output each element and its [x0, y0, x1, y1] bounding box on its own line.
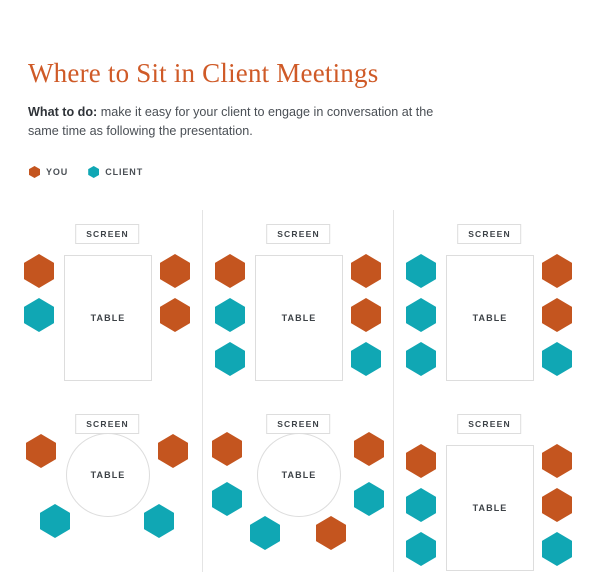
seat-you-right — [351, 254, 381, 288]
seat-you-upper-right — [354, 432, 384, 466]
table-rectangle: TABLE — [64, 255, 152, 381]
seat-client-left — [406, 532, 436, 566]
seat-client-right — [542, 342, 572, 376]
table-round: TABLE — [257, 433, 341, 517]
table-rectangle: TABLE — [446, 445, 534, 571]
seating-diagram-2: SCREENTABLE — [203, 206, 393, 392]
seat-client-bottom-left — [250, 516, 280, 550]
seat-you-upper-left — [26, 434, 56, 468]
table-round: TABLE — [66, 433, 150, 517]
subtitle-lead: What to do: — [28, 105, 97, 119]
seating-diagram-3: SCREENTABLE — [394, 206, 584, 392]
legend-item-you: YOU — [29, 166, 68, 178]
seat-you-bottom-right — [316, 516, 346, 550]
hexagon-swatch-icon — [88, 166, 99, 178]
screen-label: SCREEN — [266, 224, 330, 244]
hexagon-swatch-icon — [29, 166, 40, 178]
screen-label: SCREEN — [266, 414, 330, 434]
seat-client-right — [542, 532, 572, 566]
seat-you-right — [542, 298, 572, 332]
seating-diagram-5: SCREENTABLE — [203, 396, 393, 582]
diagram-grid: SCREENTABLESCREENTABLESCREENTABLESCREENT… — [0, 200, 600, 582]
screen-label: SCREEN — [457, 224, 521, 244]
seat-client-left — [406, 488, 436, 522]
screen-label: SCREEN — [75, 414, 139, 434]
page-subtitle: What to do: make it easy for your client… — [28, 103, 458, 141]
seat-you-left — [406, 444, 436, 478]
seat-you-right — [160, 298, 190, 332]
seating-diagram-6: SCREENTABLE — [394, 396, 584, 582]
seat-client-right — [351, 342, 381, 376]
seat-you-upper-right — [158, 434, 188, 468]
seat-client-left — [406, 254, 436, 288]
seating-diagram-1: SCREENTABLE — [12, 206, 202, 392]
seat-you-upper-left — [212, 432, 242, 466]
table-rectangle: TABLE — [255, 255, 343, 381]
seat-client-left — [24, 298, 54, 332]
seat-you-right — [542, 488, 572, 522]
legend-item-client: CLIENT — [88, 166, 143, 178]
legend-label: CLIENT — [105, 167, 143, 177]
seat-you-left — [215, 254, 245, 288]
seating-diagram-4: SCREENTABLE — [12, 396, 202, 582]
legend: YOUCLIENT — [29, 166, 143, 178]
seat-client-lower-right — [144, 504, 174, 538]
seat-client-mid-right — [354, 482, 384, 516]
screen-label: SCREEN — [457, 414, 521, 434]
page-title: Where to Sit in Client Meetings — [28, 58, 378, 89]
seat-client-mid-left — [212, 482, 242, 516]
seat-client-left — [406, 342, 436, 376]
seat-you-right — [542, 444, 572, 478]
screen-label: SCREEN — [75, 224, 139, 244]
seat-client-left — [215, 342, 245, 376]
seat-client-left — [406, 298, 436, 332]
seat-you-right — [351, 298, 381, 332]
seat-you-right — [160, 254, 190, 288]
seat-you-left — [24, 254, 54, 288]
seat-you-right — [542, 254, 572, 288]
seat-client-lower-left — [40, 504, 70, 538]
table-rectangle: TABLE — [446, 255, 534, 381]
seat-client-left — [215, 298, 245, 332]
legend-label: YOU — [46, 167, 68, 177]
